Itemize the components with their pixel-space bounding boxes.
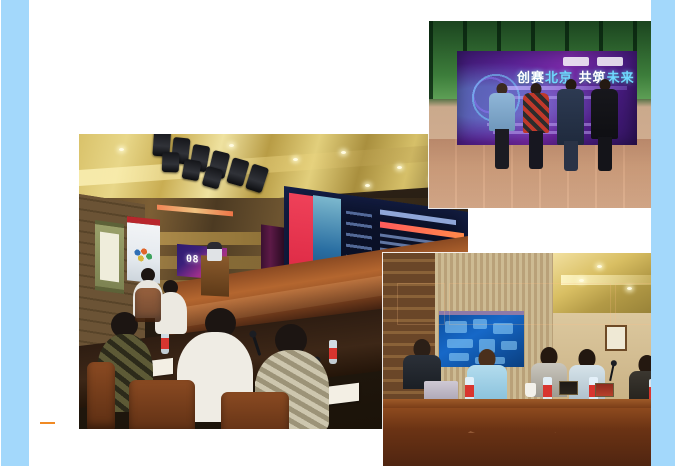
name-plate	[595, 383, 614, 397]
ceiling-light-icon	[597, 265, 602, 268]
group-person	[489, 83, 515, 169]
speaker-person	[207, 242, 222, 261]
paper-cup	[525, 383, 536, 397]
audience-chair	[135, 288, 161, 322]
panelist	[629, 355, 651, 401]
sponsor-logo-icon	[563, 57, 589, 66]
podium	[201, 255, 229, 296]
name-plate	[559, 381, 578, 395]
ceiling-light-icon	[397, 166, 402, 169]
award-group-photo[interactable]: 创赛北京 共筑未来	[429, 21, 651, 208]
ceiling-light-icon	[579, 279, 584, 282]
ceiling-light-icon	[365, 184, 370, 187]
group-person	[523, 83, 549, 169]
audience-chair	[129, 380, 195, 429]
lobby-scene: 创赛北京 共筑未来	[429, 21, 651, 208]
calligraphy-scroll	[95, 220, 124, 294]
right-decorative-rail	[651, 0, 675, 466]
meeting-room-scene	[383, 253, 651, 466]
ceiling-light-icon	[341, 151, 346, 154]
ceiling-light-icon	[293, 158, 298, 161]
collage-content-area: 08:30	[29, 0, 651, 466]
framed-wall-art	[605, 325, 627, 351]
group-person	[591, 79, 618, 171]
section-divider	[40, 422, 55, 424]
water-bottle	[329, 340, 337, 364]
audience-chair	[87, 362, 115, 429]
photo-collage-page: 08:30	[0, 0, 675, 466]
audience-chair	[221, 392, 289, 429]
panel-table-photo[interactable]	[383, 253, 651, 466]
ceiling-light-icon	[119, 148, 124, 151]
sponsor-logo-icon	[597, 57, 623, 66]
left-decorative-rail	[1, 0, 29, 466]
group-person	[557, 79, 584, 171]
